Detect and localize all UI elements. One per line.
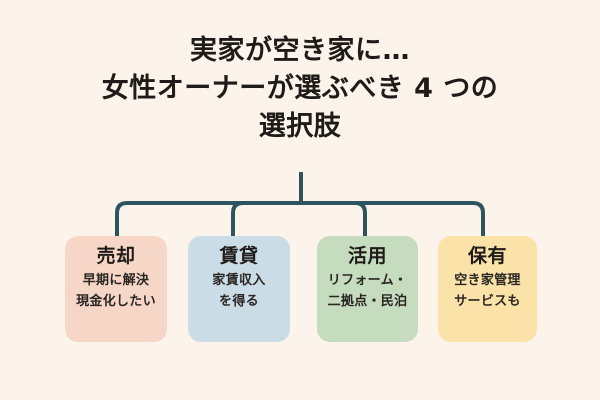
option-desc-sell: 早期に解決 現金化したい [76, 270, 156, 312]
option-title-sell: 売却 [96, 242, 135, 270]
page-title: 実家が空き家に… 女性オーナーが選ぶべき 4 つの 選択肢 [0, 32, 600, 146]
option-desc-retain: 空き家管理 サービスも [454, 270, 521, 312]
option-desc-rent-line1: 家賃収入 [212, 270, 265, 291]
connector-drop-3 [355, 203, 365, 236]
options-row: 売却 早期に解決 現金化したい 賃貸 家賃収入 を得る 活用 リフォーム・ 二拠… [0, 236, 600, 342]
title-line-2: 女性オーナーが選ぶべき 4 つの [0, 70, 600, 108]
title-line-3: 選択肢 [0, 108, 600, 146]
option-box-retain[interactable]: 保有 空き家管理 サービスも [438, 236, 537, 342]
option-desc-rent: 家賃収入 を得る [212, 270, 265, 312]
option-title-retain: 保有 [468, 242, 507, 270]
option-title-rent: 賃貸 [219, 242, 258, 270]
option-box-rent[interactable]: 賃貸 家賃収入 を得る [188, 236, 290, 342]
option-desc-rent-line2: を得る [212, 291, 265, 312]
option-desc-utilize-line2: 二拠点・民泊 [328, 291, 408, 312]
infographic-canvas: 実家が空き家に… 女性オーナーが選ぶべき 4 つの 選択肢 売却 早期に解決 現… [0, 0, 600, 400]
option-title-utilize: 活用 [348, 242, 387, 270]
title-line-1: 実家が空き家に… [0, 32, 600, 70]
option-desc-retain-line1: 空き家管理 [454, 270, 521, 291]
option-desc-sell-line1: 早期に解決 [76, 270, 156, 291]
option-desc-retain-line2: サービスも [454, 291, 521, 312]
connector-drop-2 [233, 203, 243, 236]
option-desc-sell-line2: 現金化したい [76, 291, 156, 312]
option-box-sell[interactable]: 売却 早期に解決 現金化したい [65, 236, 167, 342]
option-desc-utilize-line1: リフォーム・ [328, 270, 408, 291]
connector-bus [117, 203, 483, 236]
option-desc-utilize: リフォーム・ 二拠点・民泊 [328, 270, 408, 312]
option-box-utilize[interactable]: 活用 リフォーム・ 二拠点・民泊 [317, 236, 418, 342]
